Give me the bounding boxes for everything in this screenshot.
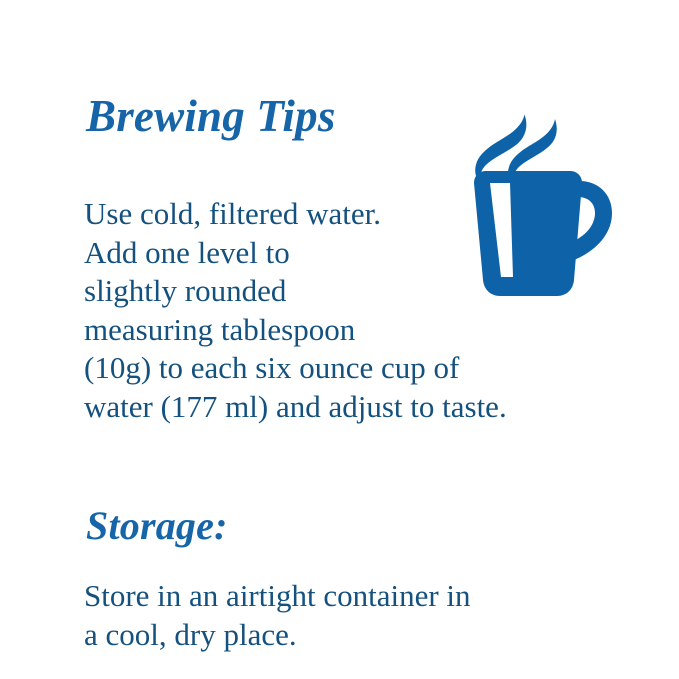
steaming-coffee-cup-icon <box>462 110 617 305</box>
cup-group <box>474 171 612 296</box>
brewing-tips-card: Brewing Tips Use cold, filtered water. A… <box>0 0 679 679</box>
storage-body: Store in an airtight container in a cool… <box>84 577 604 654</box>
storage-heading: Storage: <box>86 506 228 546</box>
cup-body <box>474 171 582 296</box>
brewing-tips-heading: Brewing Tips <box>86 94 336 139</box>
